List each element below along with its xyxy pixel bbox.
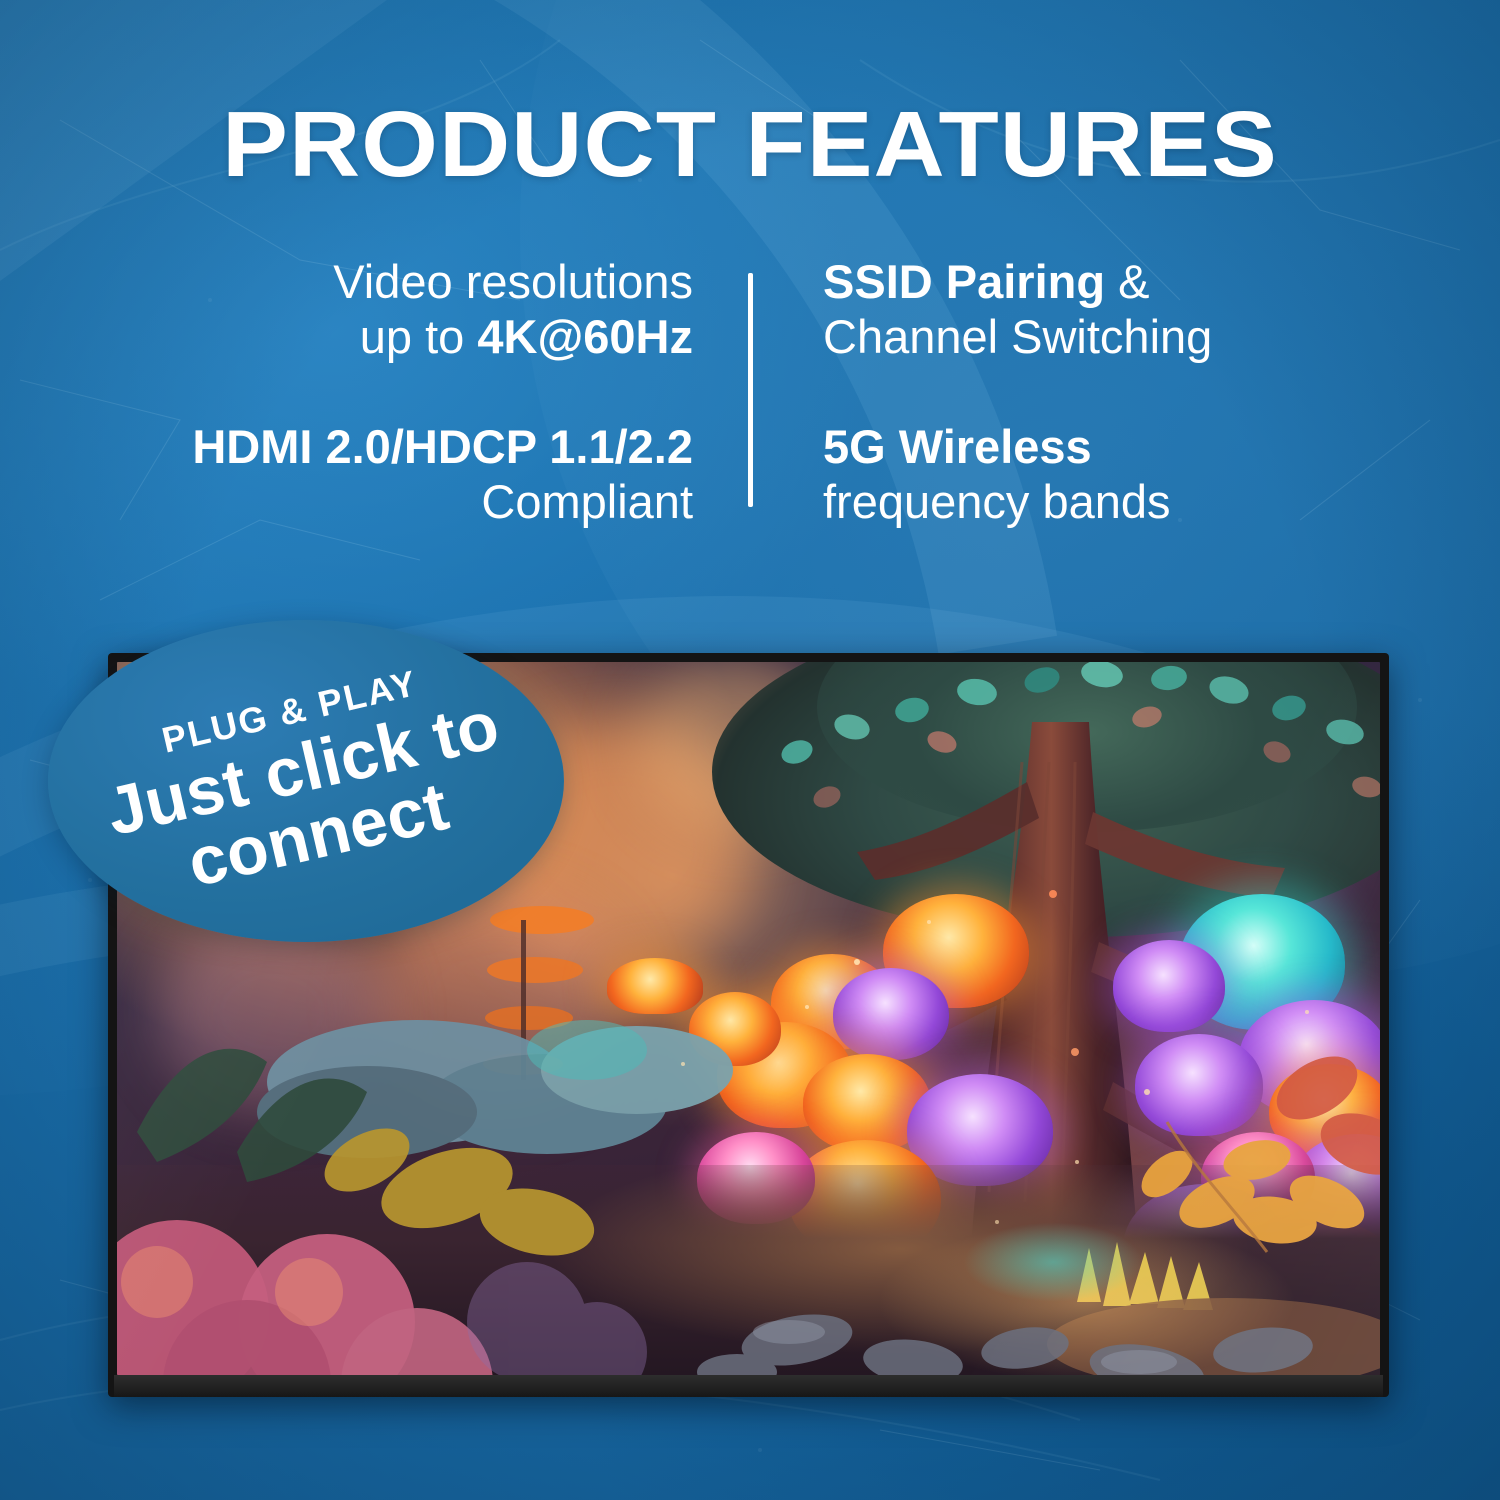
tv-bottom-bezel	[114, 1375, 1383, 1397]
feature-line: frequency bands	[823, 475, 1452, 530]
feature-text-bold: 4K@60Hz	[477, 310, 693, 363]
feature-5g-wireless: 5G Wireless frequency bands	[751, 420, 1452, 529]
feature-video-resolution: Video resolutions up to 4K@60Hz	[48, 255, 749, 364]
feature-line: Channel Switching	[823, 310, 1452, 365]
feature-line: SSID Pairing &	[823, 255, 1452, 310]
feature-text-bold: 5G Wireless	[823, 420, 1092, 473]
feature-text-bold: SSID Pairing	[823, 255, 1105, 308]
feature-text-plain: &	[1105, 255, 1149, 308]
feature-ssid-pairing: SSID Pairing & Channel Switching	[751, 255, 1452, 364]
feature-text-bold: HDMI 2.0/HDCP 1.1/2.2	[192, 420, 693, 473]
feature-line: Compliant	[48, 475, 693, 530]
feature-line: up to 4K@60Hz	[48, 310, 693, 365]
feature-text-plain: up to	[360, 310, 478, 363]
feature-line: 5G Wireless	[823, 420, 1452, 475]
feature-hdmi-hdcp: HDMI 2.0/HDCP 1.1/2.2 Compliant	[48, 420, 749, 529]
page-title: PRODUCT FEATURES	[0, 98, 1500, 191]
plug-and-play-badge: PLUG & PLAY Just click to connect	[48, 620, 564, 942]
badge-text-group: PLUG & PLAY Just click to connect	[91, 649, 520, 912]
product-feature-banner: PRODUCT FEATURES Video resolutions up to…	[0, 0, 1500, 1500]
feature-line: Video resolutions	[48, 255, 693, 310]
feature-line: HDMI 2.0/HDCP 1.1/2.2	[48, 420, 693, 475]
feature-grid: Video resolutions up to 4K@60Hz SSID Pai…	[48, 255, 1452, 529]
